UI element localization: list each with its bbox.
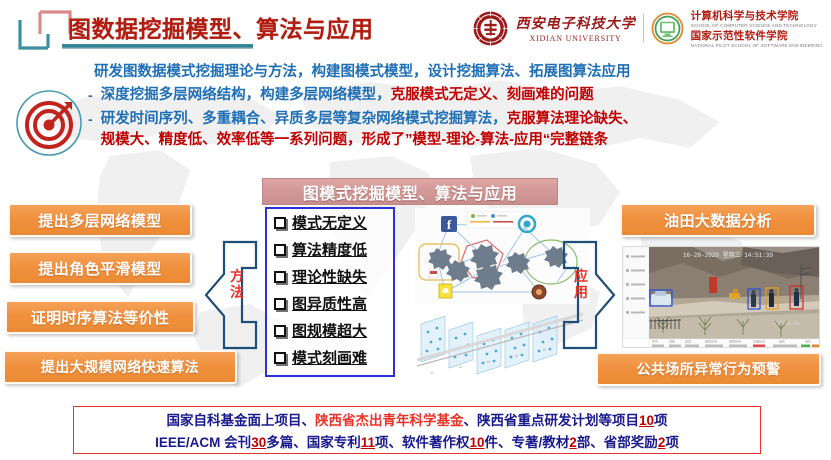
arrow-label-method: 方法: [228, 268, 246, 300]
method-pill-2[interactable]: 提出角色平滑模型: [8, 251, 192, 285]
method-pill-4[interactable]: 提出大规模网络快速算法: [3, 350, 237, 384]
checkbox-empty-icon[interactable]: [274, 298, 286, 310]
svg-text:报警时间: 报警时间: [729, 339, 741, 344]
slide-canvas: 图数据挖掘模型、算法与应用 西安电子科技大学 XIDIAN UNIVERSITY: [0, 0, 831, 460]
application-pill-top[interactable]: 油田大数据分析: [620, 203, 816, 237]
intro-block: 研发图数据模式挖掘理论与方法，构建图模式模型，设计挖掘算法、拓展图算法应用 - …: [88, 62, 828, 151]
svg-text:序号: 序号: [652, 339, 658, 344]
list-item[interactable]: 图规模超大: [267, 317, 393, 344]
f2-s4: 项、软件著作权: [375, 435, 470, 450]
svg-text:t3: t3: [487, 360, 490, 364]
computer-school-badge-icon: [651, 12, 684, 45]
method-pill-1-label: 提出多层网络模型: [38, 210, 161, 231]
intro-bullet-1-text: 深度挖掘多层网络结构，构建多层网络模型，克服模式无定义、刻画难的问题: [101, 85, 594, 106]
method-pill-3[interactable]: 证明时序算法等价性: [5, 300, 195, 334]
bullet-2-highlight-b: 规模大、精度低、效率低等一系列问题，形成了”模型-理论-算法-应用“完整链条: [101, 132, 608, 148]
method-pill-2-label: 提出角色平滑模型: [38, 258, 161, 279]
logo-divider: [643, 13, 644, 43]
bullet-2-normal: 研发时间序列、多重耦合、异质多层等复杂网络模式挖掘算法，: [101, 111, 507, 127]
f1-s4: 项: [654, 413, 668, 428]
f2-s8: 部、省部奖励: [577, 435, 658, 450]
svg-text:摄像: 摄像: [669, 339, 675, 344]
svg-text:报警区域: 报警区域: [705, 339, 717, 344]
school-name-block: 计算机科学与技术学院 SCHOOL OF COMPUTER SCIENCE AN…: [691, 8, 823, 48]
intro-lead: 研发图数据模式挖掘理论与方法，构建图模式模型，设计挖掘算法、拓展图算法应用: [94, 62, 828, 82]
application-pill-bottom-label: 公共场所异常行为预警: [637, 359, 781, 379]
checklist-label: 模式刻画难: [292, 347, 367, 368]
school-name-cn-2: 国家示范性软件学院: [691, 28, 823, 43]
f2-s2: 多篇、国家专利: [266, 435, 361, 450]
problem-checklist-panel: 模式无定义 算法精度低 理论性缺失 图异质性高 图规模超大 模式刻画难: [265, 207, 395, 377]
method-pill-4-label: 提出大规模网络快速算法: [41, 357, 199, 377]
title-underline: [62, 44, 253, 49]
svg-text:t5: t5: [543, 348, 546, 352]
footer-line-1: 国家自科基金面上项目、陕西省杰出青年科学基金、陕西省重点研发计划等项目10项: [166, 409, 667, 429]
f1-s2: 、陕西省重点研发计划等项目: [463, 413, 639, 428]
bullet-dash: -: [88, 85, 93, 106]
university-name-cn: 西安电子科技大学: [516, 13, 636, 33]
checkbox-empty-icon[interactable]: [274, 325, 286, 337]
svg-text:类型: 类型: [685, 339, 691, 344]
checkbox-empty-icon[interactable]: [274, 217, 286, 229]
f2-s1: 30: [251, 435, 266, 450]
checklist-label: 图异质性高: [292, 293, 367, 314]
bullseye-target-icon: [14, 88, 84, 158]
school-name-en-2: NATIONAL PILOT SCHOOL OF SOFTWARE ENGINE…: [691, 43, 823, 48]
application-pill-bottom[interactable]: 公共场所异常行为预警: [596, 352, 821, 386]
logo-group: 西安电子科技大学 XIDIAN UNIVERSITY 计算机科学与技术学院 SC…: [472, 6, 823, 50]
arrow-label-application: 应用: [572, 268, 590, 300]
list-item[interactable]: 模式无定义: [267, 209, 393, 236]
xidian-seal-icon: [472, 10, 509, 47]
bullet-1-normal: 深度挖掘多层网络结构，构建多层网络模型，: [101, 87, 391, 103]
f2-s5: 10: [470, 435, 485, 450]
checklist-label: 模式无定义: [292, 212, 367, 233]
university-name-en: XIDIAN UNIVERSITY: [530, 34, 622, 43]
svg-text:f: f: [447, 217, 452, 232]
f1-s0: 国家自科基金面上项目、: [166, 413, 315, 428]
list-item[interactable]: 算法精度低: [267, 236, 393, 263]
f1-s3: 10: [639, 413, 654, 428]
checkbox-empty-icon[interactable]: [274, 244, 286, 256]
list-item[interactable]: 模式刻画难: [267, 344, 393, 371]
surveillance-monitoring-screenshot: 16-28-2020 星期三 14:51:39 202091-41: [622, 246, 820, 348]
f1-s1: 陕西省杰出青年科学基金: [315, 413, 464, 428]
school-name-cn-1: 计算机科学与技术学院: [691, 8, 823, 23]
list-item[interactable]: 理论性缺失: [267, 263, 393, 290]
list-item[interactable]: 图异质性高: [267, 290, 393, 317]
svg-text:t1: t1: [431, 371, 434, 375]
method-pill-3-label: 证明时序算法等价性: [31, 307, 170, 328]
application-pill-top-label: 油田大数据分析: [664, 210, 772, 231]
page-title: 图数据挖掘模型、算法与应用: [68, 10, 374, 44]
svg-text:处理状态: 处理状态: [753, 339, 765, 344]
svg-text:t2: t2: [459, 365, 462, 369]
center-heading-bar: 图模式挖掘模型、算法与应用: [262, 178, 558, 205]
center-heading-text: 图模式挖掘模型、算法与应用: [303, 180, 518, 204]
checkbox-empty-icon[interactable]: [274, 271, 286, 283]
university-name: 西安电子科技大学 XIDIAN UNIVERSITY: [516, 13, 636, 43]
checklist-label: 图规模超大: [292, 320, 367, 341]
svg-text:t4: t4: [515, 354, 518, 358]
footer-line-2: IEEE/ACM 会刊30多篇、国家专利11项、软件著作权10件、专著/教材2部…: [155, 431, 679, 451]
f2-s3: 11: [361, 435, 375, 450]
f2-s7: 2: [569, 435, 577, 450]
f2-s0: IEEE/ACM 会刊: [155, 435, 251, 450]
checkbox-empty-icon[interactable]: [274, 352, 286, 364]
bullet-1-highlight: 克服模式无定义、刻画难的问题: [391, 87, 594, 103]
intro-bullet-2-text: 研发时间序列、多重耦合、异质多层等复杂网络模式挖掘算法，克服算法理论缺失、 规模…: [101, 109, 638, 151]
method-pill-1[interactable]: 提出多层网络模型: [8, 203, 192, 237]
checklist-label: 理论性缺失: [292, 266, 367, 287]
achievements-footer: 国家自科基金面上项目、陕西省杰出青年科学基金、陕西省重点研发计划等项目10项 I…: [73, 406, 761, 454]
svg-text:16-28-2020 星期三 14:51:39: 16-28-2020 星期三 14:51:39: [683, 251, 773, 259]
intro-bullet-2: - 研发时间序列、多重耦合、异质多层等复杂网络模式挖掘算法，克服算法理论缺失、 …: [88, 109, 828, 151]
bullet-dash: -: [88, 109, 93, 151]
svg-text:操作: 操作: [779, 339, 785, 344]
f2-s6: 件、专著/教材: [485, 435, 570, 450]
bullet-2-highlight-a: 克服算法理论缺失、: [507, 111, 638, 127]
intro-bullet-1: - 深度挖掘多层网络结构，构建多层网络模型，克服模式无定义、刻画难的问题: [88, 85, 828, 106]
svg-text:备注: 备注: [805, 339, 811, 344]
f2-s10: 项: [665, 435, 679, 450]
checklist-label: 算法精度低: [292, 239, 367, 260]
